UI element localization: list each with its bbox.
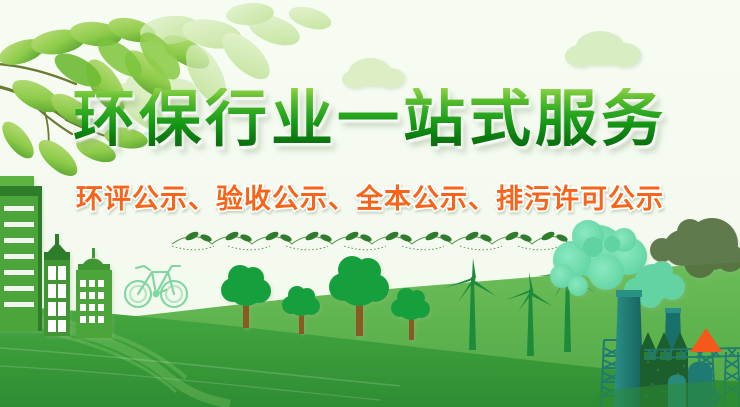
eco-industry-banner: 环保行业一站式服务 环评公示、验收公示、全本公示、排污许可公示	[0, 0, 740, 407]
factory-complex	[0, 0, 740, 407]
crane-marker-triangle	[690, 328, 722, 352]
